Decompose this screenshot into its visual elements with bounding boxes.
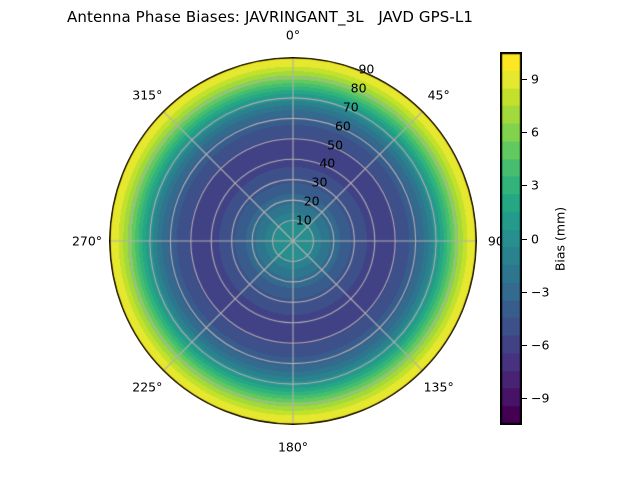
colorbar-tick-mark-1 <box>522 132 527 133</box>
angular-tick-180: 180° <box>278 440 308 455</box>
colorbar-tick-mark-5 <box>522 345 527 346</box>
colorbar-gradient <box>500 52 522 425</box>
radial-tick-20: 20 <box>304 194 320 209</box>
radial-tick-80: 80 <box>351 80 367 95</box>
angular-tick-135: 135° <box>424 379 454 394</box>
angular-tick-0: 0° <box>286 28 300 43</box>
radial-tick-30: 30 <box>312 175 328 190</box>
colorbar-tick-label-6: −9 <box>531 391 549 406</box>
colorbar-tick-mark-4 <box>522 292 527 293</box>
polar-axes[interactable] <box>109 57 477 425</box>
radial-tick-50: 50 <box>327 137 343 152</box>
colorbar-tick-label-2: 3 <box>531 178 539 193</box>
colorbar-tick-mark-0 <box>522 79 527 80</box>
radial-tick-70: 70 <box>343 99 359 114</box>
angular-tick-315: 315° <box>132 88 162 103</box>
radial-tick-10: 10 <box>296 213 312 228</box>
figure-canvas: Antenna Phase Biases: JAVRINGANT_3L JAVD… <box>0 0 640 480</box>
colorbar-tick-mark-6 <box>522 398 527 399</box>
colorbar-tick-mark-3 <box>522 239 527 240</box>
angular-tick-45: 45° <box>428 88 450 103</box>
angular-tick-270: 270° <box>72 234 102 249</box>
colorbar-tick-mark-2 <box>522 185 527 186</box>
radial-tick-60: 60 <box>335 118 351 133</box>
colorbar-tick-label-5: −6 <box>531 338 549 353</box>
colorbar-label: Bias (mm) <box>553 207 568 271</box>
page-title: Antenna Phase Biases: JAVRINGANT_3L JAVD… <box>0 8 540 26</box>
angular-tick-225: 225° <box>132 379 162 394</box>
radial-tick-90: 90 <box>358 62 374 77</box>
radial-tick-40: 40 <box>319 156 335 171</box>
colorbar-tick-label-1: 6 <box>531 124 539 139</box>
colorbar-tick-label-0: 9 <box>531 71 539 86</box>
colorbar[interactable]: 9630−3−6−9 <box>500 52 522 425</box>
colorbar-tick-label-4: −3 <box>531 284 549 299</box>
colorbar-tick-label-3: 0 <box>531 231 539 246</box>
polar-heatmap[interactable] <box>109 57 477 425</box>
